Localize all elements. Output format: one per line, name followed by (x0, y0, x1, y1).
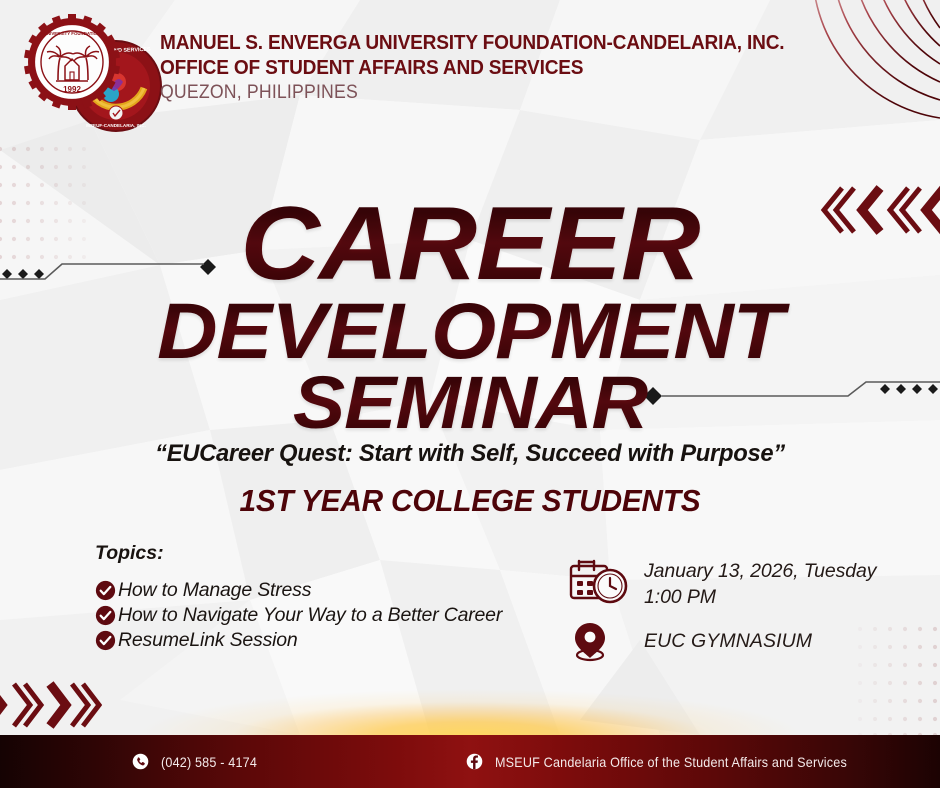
chevron-right-group-icon (0, 676, 102, 734)
calendar-clock-icon (568, 558, 630, 604)
title-line-1: CAREER (0, 196, 940, 294)
check-circle-icon (95, 580, 116, 601)
title-line-3: SEMINAR (0, 368, 940, 438)
topic-label: ResumeLink Session (118, 629, 298, 652)
event-tagline: “EUCareer Quest: Start with Self, Succee… (14, 440, 926, 468)
organization-text: MANUEL S. ENVERGA UNIVERSITY FOUNDATION-… (160, 30, 831, 106)
poster-header: T AFFAIRS AND SERVICES MSEUF-CANDELARIA,… (0, 0, 940, 140)
topic-label: How to Navigate Your Way to a Better Car… (118, 604, 502, 627)
title-line-2: DEVELOPMENT (0, 294, 940, 368)
phone-icon (132, 753, 149, 770)
topics-heading: Topics: (95, 542, 502, 565)
svg-text:1992: 1992 (63, 85, 81, 94)
seal-group: T AFFAIRS AND SERVICES MSEUF-CANDELARIA,… (18, 10, 168, 135)
check-circle-icon (95, 630, 116, 651)
svg-text:MSEUF-CANDELARIA, INC.: MSEUF-CANDELARIA, INC. (86, 123, 146, 128)
date-time-row: January 13, 2026, Tuesday 1:00 PM (568, 558, 876, 610)
topic-label: How to Manage Stress (118, 579, 311, 602)
topics-section: Topics: How to Manage Stress How to Navi… (95, 542, 502, 653)
target-audience: 1ST YEAR COLLEGE STUDENTS (19, 483, 921, 519)
event-time: 1:00 PM (644, 584, 876, 610)
main-title: CAREER DEVELOPMENT SEMINAR (0, 196, 940, 438)
svg-text:UNIVERSITY FOUNDATION: UNIVERSITY FOUNDATION (44, 31, 100, 36)
poster-canvas: T AFFAIRS AND SERVICES MSEUF-CANDELARIA,… (0, 0, 940, 788)
topic-item: How to Navigate Your Way to a Better Car… (95, 603, 502, 628)
check-circle-icon (95, 605, 116, 626)
location-line: QUEZON, PHILIPPINES (160, 80, 784, 106)
location-pin-icon (568, 620, 630, 662)
venue-row: EUC GYMNASIUM (568, 620, 876, 662)
topic-item: ResumeLink Session (95, 628, 502, 653)
event-venue: EUC GYMNASIUM (644, 630, 812, 653)
facebook-page: MSEUF Candelaria Office of the Student A… (495, 754, 847, 770)
org-name-line: MANUEL S. ENVERGA UNIVERSITY FOUNDATION-… (160, 30, 784, 55)
contact-phone[interactable]: (042) 585 - 4174 (132, 753, 268, 770)
facebook-icon (466, 753, 483, 770)
contact-facebook[interactable]: MSEUF Candelaria Office of the Student A… (466, 753, 886, 770)
phone-number: (042) 585 - 4174 (161, 754, 257, 770)
event-details: January 13, 2026, Tuesday 1:00 PM EUC GY… (568, 558, 876, 662)
event-date: January 13, 2026, Tuesday (644, 558, 876, 584)
office-name-line: OFFICE OF STUDENT AFFAIRS AND SERVICES (160, 55, 784, 80)
topic-item: How to Manage Stress (95, 578, 502, 603)
poster-footer: (042) 585 - 4174 MSEUF Candelaria Office… (0, 735, 940, 788)
